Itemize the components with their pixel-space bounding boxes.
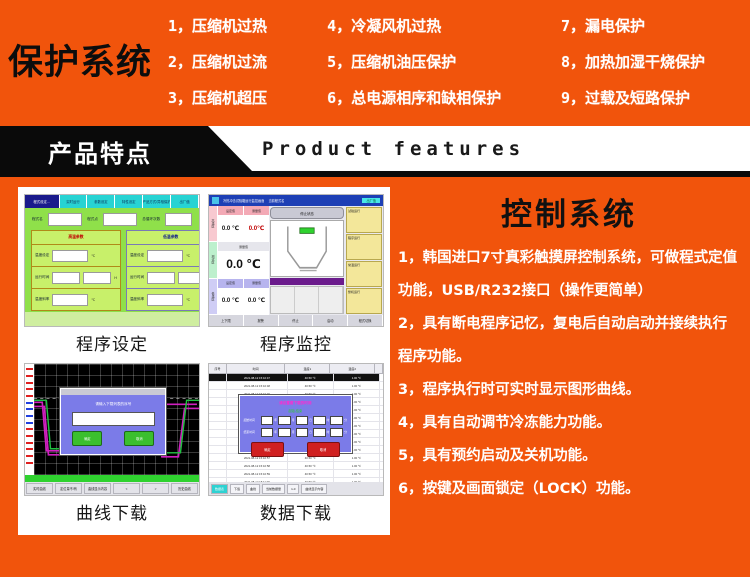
- hmi-value-head: 设定值: [218, 206, 243, 215]
- hmi-dialog-month-input[interactable]: [278, 428, 291, 437]
- hmi-col-header: 序号: [209, 364, 227, 373]
- hmi-zone-cells: 测量值 0.0 ℃: [217, 242, 269, 277]
- hmi-col-header-scroll: [375, 364, 383, 373]
- control-system-list-item: 5，具有预约启动及关机功能。: [398, 440, 740, 473]
- hmi-pane-row: 运行时间 H: [126, 267, 200, 289]
- protection-item-label: 漏电保护: [585, 18, 645, 35]
- hmi-value-readout: 0.0 ℃: [218, 288, 243, 314]
- hmi-pane-row: 温度斜率 ℃: [31, 289, 121, 311]
- table-cell-index: [209, 406, 227, 413]
- hmi-row-input[interactable]: [147, 272, 175, 284]
- protection-item-number: 4，: [327, 17, 351, 35]
- hmi-dialog-unit: 月: [292, 418, 295, 422]
- hmi-mode-button[interactable]: 程序运行: [346, 234, 382, 260]
- protection-item: 6，总电源相序和缺相保护: [327, 80, 561, 116]
- table-cell-index: [209, 438, 227, 445]
- screenshot-caption: 程序监控: [208, 327, 384, 363]
- hmi-curve-screen: 请输入下载列表的序号 确定 取消 实: [25, 364, 199, 495]
- table-row[interactable]: 2021-08-12 15:10:5840.50 ℃1.00 ℃: [209, 462, 383, 470]
- table-cell-temp2: 1.00 ℃: [334, 478, 380, 482]
- hmi-dialog-unit: 分: [344, 418, 347, 422]
- table-cell-temp1: 40.50 ℃: [288, 478, 334, 482]
- protection-item-number: 5，: [327, 53, 351, 71]
- hmi-value-cell: 测量值 0.0℃: [243, 206, 269, 241]
- screenshot-frame: 序号 时间 温度1 温度2 2021-08-12 15:10:4740.50 ℃…: [208, 363, 384, 496]
- screenshot-item-program-monitor: 冷热冲击试验箱运行监控画面 当前程式名 出厂值 高温区 设定值: [208, 194, 384, 363]
- table-cell-temp2: 1.00 ℃: [334, 462, 380, 469]
- control-system-title: 控制系统: [398, 189, 740, 234]
- hmi-footer-button[interactable]: 程式切换: [348, 315, 383, 326]
- table-row[interactable]: 2021-08-12 15:10:5940.50 ℃1.00 ℃: [209, 470, 383, 478]
- hmi-tab[interactable]: 实时运行: [60, 195, 88, 208]
- protection-item-label: 过载及短路保护: [585, 90, 690, 107]
- hmi-footer-button[interactable]: 下载: [230, 484, 244, 494]
- hmi-row-input[interactable]: [83, 272, 111, 284]
- hmi-footer-button[interactable]: 停止: [279, 315, 314, 326]
- hmi-field-row: 程式名 程式点 总循环次数: [25, 208, 199, 230]
- hmi-footer-count: 1-0: [287, 484, 299, 494]
- table-cell-temp1: 40.50 ℃: [288, 382, 334, 389]
- hmi-field-label: 程式点: [87, 217, 98, 222]
- hmi-col-header: 温度2: [330, 364, 375, 373]
- protection-item-label: 压缩机过热: [192, 18, 267, 35]
- hmi-value-cell: 测量值 0.0 ℃: [243, 279, 269, 314]
- hmi-app-icon: [212, 197, 219, 204]
- hmi-row-input[interactable]: [147, 250, 183, 262]
- hmi-dialog-cancel-button[interactable]: 取消: [307, 442, 340, 457]
- hmi-row-input[interactable]: [52, 294, 88, 306]
- hmi-value-cell: 测量值 0.0 ℃: [217, 242, 269, 277]
- hmi-dialog-message: 请输入下载列表的序号: [61, 402, 165, 407]
- hmi-mode-button[interactable]: 试验运行: [346, 207, 382, 233]
- hmi-titlebar-button[interactable]: 出厂值: [362, 198, 380, 203]
- hmi-parameter-panes: 高温参数 温度设定 ℃ 运行时间 H: [25, 230, 199, 311]
- protection-item: 9，过载及短路保护: [561, 80, 750, 116]
- screenshot-item-program-setting: 程式设定… 实时运行 参数设定 特性设定 产品方式/异相保护 出厂值 程式名 程…: [24, 194, 200, 363]
- hmi-value-cell: 设定值 0.0 ℃: [217, 206, 243, 241]
- hmi-row-unit: ℃: [91, 254, 95, 258]
- control-system-list-item: 3，程序执行时可实时显示图形曲线。: [398, 374, 740, 407]
- page-root: 保护系统 1，压缩机过热 2，压缩机过流 3，压缩机超压 4，冷凝风机过热 5，: [0, 0, 750, 577]
- hmi-data-screen: 序号 时间 温度1 温度2 2021-08-12 15:10:4740.50 ℃…: [209, 364, 383, 495]
- hmi-row-label: 温度设定: [130, 253, 144, 258]
- table-cell-index: [209, 478, 227, 482]
- screenshot-frame: 请输入下载列表的序号 确定 取消 实: [24, 363, 200, 496]
- protection-column-3: 7，漏电保护 8，加热加湿干烧保护 9，过载及短路保护: [561, 8, 750, 116]
- hmi-footer-strip: [25, 312, 199, 326]
- table-cell-temp2: 1.00 ℃: [334, 382, 380, 389]
- hmi-curve-footer: 实时曲线 定位量不/有 曲线显示内容 < > 历史曲线: [25, 482, 199, 495]
- hmi-value-head: 测量值: [218, 242, 269, 251]
- hmi-info-cell: [271, 287, 295, 313]
- screenshot-caption: 数据下载: [208, 496, 384, 532]
- hmi-field-input[interactable]: [165, 213, 192, 226]
- protection-item-number: 2，: [168, 53, 192, 71]
- hmi-pane-high-temp: 高温参数 温度设定 ℃ 运行时间 H: [31, 230, 121, 311]
- protection-item: 2，压缩机过流: [168, 44, 327, 80]
- hmi-footer-button[interactable]: 曲线: [246, 484, 260, 494]
- hmi-program-setting-screen: 程式设定… 实时运行 参数设定 特性设定 产品方式/异相保护 出厂值 程式名 程…: [25, 195, 199, 326]
- hmi-info-table: [270, 286, 344, 314]
- hmi-zone-low: 低温区 设定值 0.0 ℃ 测量值 0.0 ℃: [209, 279, 269, 315]
- product-features-title-cn: 产品特点: [48, 134, 152, 169]
- hmi-mode-button[interactable]: 整机运行: [346, 288, 382, 314]
- hmi-value-readout: 0.0 ℃: [244, 288, 269, 314]
- protection-item: 7，漏电保护: [561, 8, 750, 44]
- screenshot-caption: 程序设定: [24, 327, 200, 363]
- screenshot-frame: 程式设定… 实时运行 参数设定 特性设定 产品方式/异相保护 出厂值 程式名 程…: [24, 194, 200, 327]
- product-features-title-en: Product features: [262, 138, 525, 160]
- hmi-dialog-title: 请设置要下载的时间: [240, 401, 351, 406]
- hmi-dialog-buttons: 确定 取消: [240, 442, 351, 457]
- hmi-pane-row: 运行时间 H: [31, 267, 121, 289]
- hmi-row-unit: ℃: [91, 298, 95, 302]
- hmi-dialog-buttons: 确定 取消: [61, 431, 165, 446]
- protection-column-2: 4，冷凝风机过热 5，压缩机油压保护 6，总电源相序和缺相保护: [327, 8, 561, 116]
- hmi-dialog-unit: 年: [274, 430, 277, 434]
- protection-item-number: 7，: [561, 17, 585, 35]
- hmi-row-label: 温度斜率: [130, 297, 144, 302]
- product-features-bar: 产品特点 Product features: [0, 126, 750, 177]
- hmi-info-cell: [295, 287, 319, 313]
- hmi-row-input[interactable]: [52, 250, 88, 262]
- hmi-zone-cells: 设定值 0.0 ℃ 测量值 0.0 ℃: [217, 279, 269, 314]
- hmi-pane-low-temp: 低温参数 温度设定 ℃ 运行时间 H: [126, 230, 200, 311]
- hmi-download-dialog: 请输入下载列表的序号 确定 取消: [60, 388, 166, 454]
- chamber-icon: [271, 221, 343, 276]
- table-cell-index: [209, 390, 227, 397]
- hmi-dialog-subtitle: 起始-结束: [240, 408, 351, 413]
- table-cell-index: [209, 382, 227, 389]
- hmi-dialog-unit: 日: [309, 418, 312, 422]
- hmi-dialog-minute-input[interactable]: [330, 416, 343, 425]
- hmi-dialog-row-label: 起始时间: [244, 418, 260, 422]
- hmi-dialog-day-input[interactable]: [296, 428, 309, 437]
- hmi-data-table-header: 序号 时间 温度1 温度2: [209, 364, 383, 374]
- hmi-tab[interactable]: 参数设定: [87, 195, 115, 208]
- protection-item: 1，压缩机过热: [168, 8, 327, 44]
- hmi-zone-label: 测试区: [209, 242, 217, 277]
- table-row[interactable]: 2021-08-12 15:11:0040.50 ℃1.00 ℃: [209, 478, 383, 482]
- hmi-tab[interactable]: 程式设定…: [25, 195, 60, 208]
- table-cell-temp1: 40.50 ℃: [288, 374, 334, 381]
- hmi-footer-button[interactable]: 上下限: [209, 315, 244, 326]
- hmi-row-input[interactable]: [147, 294, 183, 306]
- hmi-titlebar-mid: 当前程式名: [268, 198, 284, 203]
- hmi-row-unit: ℃: [186, 298, 190, 302]
- protection-item-label: 压缩机过流: [192, 54, 267, 71]
- hmi-row-unit: H: [114, 276, 116, 280]
- table-cell-index: [209, 422, 227, 429]
- hmi-tab[interactable]: 出厂值: [171, 195, 199, 208]
- hmi-footer-button[interactable]: 实时曲线: [26, 483, 53, 494]
- hmi-curve-timeline: [25, 475, 199, 482]
- hmi-field-label: 程式名: [32, 217, 43, 222]
- protection-item: 8，加热加湿干烧保护: [561, 44, 750, 80]
- protection-item-label: 加热加湿干烧保护: [585, 54, 705, 71]
- hmi-zone-high: 高温区 设定值 0.0 ℃ 测量值 0.0℃: [209, 206, 269, 242]
- hmi-dialog-row-label: 结束时间: [244, 430, 260, 434]
- hmi-zone-label: 低温区: [209, 279, 217, 314]
- hmi-dialog-year-input[interactable]: [261, 416, 274, 425]
- protection-item-label: 总电源相序和缺相保护: [351, 90, 501, 107]
- hmi-dialog-hour-input[interactable]: [313, 428, 326, 437]
- protection-item: 4，冷凝风机过热: [327, 8, 561, 44]
- screenshot-item-data-download: 序号 时间 温度1 温度2 2021-08-12 15:10:4740.50 ℃…: [208, 363, 384, 532]
- hmi-monitor-body: 高温区 设定值 0.0 ℃ 测量值 0.0℃: [209, 206, 383, 315]
- table-cell-temp1: 40.50 ℃: [288, 470, 334, 477]
- table-row[interactable]: 2021-08-12 15:10:4840.50 ℃1.00 ℃: [209, 382, 383, 390]
- hmi-row-input[interactable]: [52, 272, 80, 284]
- hmi-monitor-center-column: 停止状态: [269, 206, 345, 315]
- screenshot-gallery: 程式设定… 实时运行 参数设定 特性设定 产品方式/异相保护 出厂值 程式名 程…: [18, 187, 390, 535]
- protection-system-banner: 保护系统 1，压缩机过热 2，压缩机过流 3，压缩机超压 4，冷凝风机过热 5，: [0, 0, 750, 126]
- hmi-dialog-unit: 时: [327, 430, 330, 434]
- hmi-status-badge: 停止状态: [270, 207, 344, 219]
- hmi-data-footer: 数据表 下载 曲线 当前数据量 1-0 曲线显示内容: [209, 482, 383, 495]
- hmi-pane-title: 低温参数: [126, 230, 200, 245]
- protection-system-title: 保护系统: [8, 34, 152, 85]
- table-cell-index: [209, 462, 227, 469]
- hmi-zone-cells: 设定值 0.0 ℃ 测量值 0.0℃: [217, 206, 269, 241]
- table-cell-temp2: 1.00 ℃: [334, 374, 380, 381]
- hmi-footer-button[interactable]: 曲线显示内容: [301, 484, 327, 494]
- table-cell-index: [209, 414, 227, 421]
- hmi-footer-bar: 上下限 报警 停止 启动 程式切换: [209, 315, 383, 326]
- hmi-dialog-year-input[interactable]: [261, 428, 274, 437]
- control-system-list-item: 4，具有自动调节冷冻能力功能。: [398, 407, 740, 440]
- hmi-value-head: 测量值: [244, 206, 269, 215]
- hmi-pane-row: 温度斜率 ℃: [126, 289, 200, 311]
- screenshot-frame: 冷热冲击试验箱运行监控画面 当前程式名 出厂值 高温区 设定值: [208, 194, 384, 327]
- hmi-dialog-day-input[interactable]: [296, 416, 309, 425]
- hmi-dialog-month-input[interactable]: [278, 416, 291, 425]
- hmi-row-label: 温度设定: [35, 253, 49, 258]
- hmi-value-readout: 0.0℃: [244, 215, 269, 241]
- hmi-footer-button[interactable]: 数据表: [211, 484, 228, 494]
- table-cell-time: 2021-08-12 15:10:58: [227, 462, 287, 469]
- protection-item-columns: 1，压缩机过热 2，压缩机过流 3，压缩机超压 4，冷凝风机过热 5，压缩机油压…: [168, 8, 750, 116]
- hmi-dialog-unit: 分: [344, 430, 347, 434]
- hmi-footer-next-button[interactable]: >: [142, 483, 169, 494]
- hmi-curve-plot: 请输入下载列表的序号 确定 取消: [34, 364, 199, 475]
- hmi-footer-button[interactable]: 定位量不/有: [55, 483, 82, 494]
- hmi-footer-label: 当前数据量: [262, 484, 285, 494]
- table-row[interactable]: 2021-08-12 15:10:4740.50 ℃1.00 ℃: [209, 374, 383, 382]
- hmi-time-range-dialog: 请设置要下载的时间 起始-结束 起始时间 年 月 日: [239, 395, 352, 453]
- hmi-dialog-hour-input[interactable]: [313, 416, 326, 425]
- hmi-row-unit: ℃: [186, 254, 190, 258]
- hmi-mode-button[interactable]: 常温运行: [346, 261, 382, 287]
- hmi-field-label: 总循环次数: [142, 217, 160, 222]
- table-cell-index: [209, 454, 227, 461]
- hmi-titlebar-text: 冷热冲击试验箱运行监控画面: [223, 198, 264, 203]
- hmi-titlebar: 冷热冲击试验箱运行监控画面 当前程式名 出厂值: [209, 195, 383, 206]
- control-system-list-item: 6，按键及画面锁定（LOCK）功能。: [398, 473, 740, 506]
- hmi-field-input[interactable]: [48, 213, 82, 226]
- protection-item: 3，压缩机超压: [168, 80, 327, 116]
- hmi-tab[interactable]: 产品方式/异相保护: [143, 195, 171, 208]
- hmi-curve-area: 请输入下载列表的序号 确定 取消: [25, 364, 199, 475]
- hmi-tab[interactable]: 特性设定: [115, 195, 143, 208]
- hmi-dialog-titlebar: [61, 389, 165, 395]
- table-cell-temp1: 40.50 ℃: [288, 462, 334, 469]
- hmi-info-cell: [319, 287, 343, 313]
- protection-item-label: 压缩机超压: [192, 90, 267, 107]
- table-cell-index: [209, 374, 227, 381]
- protection-item-number: 8，: [561, 53, 585, 71]
- hmi-dialog-minute-input[interactable]: [330, 428, 343, 437]
- hmi-dialog-unit: 月: [292, 430, 295, 434]
- protection-item-label: 冷凝风机过热: [351, 18, 441, 35]
- hmi-pane-title: 高温参数: [31, 230, 121, 245]
- hmi-dialog-row: 结束时间 年 月 日 时 分: [244, 428, 347, 437]
- hmi-zone-label: 高温区: [209, 206, 217, 241]
- protection-item-number: 1，: [168, 17, 192, 35]
- hmi-data-table-rows[interactable]: 2021-08-12 15:10:4740.50 ℃1.00 ℃2021-08-…: [209, 374, 383, 482]
- table-cell-time: 2021-08-12 15:10:48: [227, 382, 287, 389]
- hmi-pane-row: 温度设定 ℃: [126, 245, 200, 267]
- protection-item-label: 压缩机油压保护: [351, 54, 456, 71]
- hmi-value-head: 设定值: [218, 279, 243, 288]
- table-cell-time: 2021-08-12 15:10:59: [227, 470, 287, 477]
- hmi-monitor-left-column: 高温区 设定值 0.0 ℃ 测量值 0.0℃: [209, 206, 269, 315]
- table-cell-index: [209, 446, 227, 453]
- hmi-footer-button[interactable]: 启动: [313, 315, 348, 326]
- hmi-monitor-right-buttons: 试验运行 程序运行 常温运行 整机运行: [345, 206, 383, 315]
- hmi-col-header: 时间: [227, 364, 285, 373]
- body-section: 程式设定… 实时运行 参数设定 特性设定 产品方式/异相保护 出厂值 程式名 程…: [0, 177, 750, 577]
- control-system-list-item: 2，具有断电程序记忆，复电后自动启动并接续执行程序功能。: [398, 308, 740, 374]
- table-cell-index: [209, 430, 227, 437]
- control-system-list: 1，韩国进口7寸真彩触摸屏控制系统，可做程式定值功能，USB/R232接口（操作…: [398, 242, 740, 506]
- hmi-dialog-input[interactable]: [72, 412, 155, 426]
- table-cell-index: [209, 470, 227, 477]
- hmi-curve-scale: [25, 364, 34, 475]
- hmi-value-cell: 设定值 0.0 ℃: [217, 279, 243, 314]
- hmi-row-label: 运行时间: [130, 275, 144, 280]
- hmi-progress-bar: [270, 278, 344, 285]
- table-cell-index: [209, 398, 227, 405]
- control-system-list-item: 1，韩国进口7寸真彩触摸屏控制系统，可做程式定值功能，USB/R232接口（操作…: [398, 242, 740, 308]
- hmi-dialog-cancel-button[interactable]: 取消: [124, 431, 154, 446]
- hmi-footer-button[interactable]: 历史曲线: [171, 483, 198, 494]
- hmi-dialog-confirm-button[interactable]: 确定: [72, 431, 102, 446]
- hmi-footer-button[interactable]: 曲线显示内容: [84, 483, 111, 494]
- protection-item-number: 3，: [168, 89, 192, 107]
- hmi-chamber-diagram: [270, 220, 344, 277]
- hmi-dialog-confirm-button[interactable]: 确定: [251, 442, 284, 457]
- table-cell-time: 2021-08-12 15:10:47: [227, 374, 287, 381]
- protection-item-number: 9，: [561, 89, 585, 107]
- protection-item: 5，压缩机油压保护: [327, 44, 561, 80]
- hmi-dialog-unit: 时: [327, 418, 330, 422]
- table-cell-temp2: 1.00 ℃: [334, 470, 380, 477]
- hmi-zone-test: 测试区 测量值 0.0 ℃: [209, 242, 269, 278]
- screenshot-caption: 曲线下载: [24, 496, 200, 532]
- protection-column-1: 1，压缩机过热 2，压缩机过流 3，压缩机超压: [168, 8, 327, 116]
- screenshot-item-curve-download: 请输入下载列表的序号 确定 取消 实: [24, 363, 200, 532]
- hmi-dialog-row: 起始时间 年 月 日 时 分: [244, 416, 347, 425]
- hmi-value-readout: 0.0 ℃: [218, 251, 269, 277]
- hmi-tabbar: 程式设定… 实时运行 参数设定 特性设定 产品方式/异相保护 出厂值: [25, 195, 199, 208]
- table-cell-time: 2021-08-12 15:11:00: [227, 478, 287, 482]
- hmi-footer-prev-button[interactable]: <: [113, 483, 140, 494]
- hmi-monitor-screen: 冷热冲击试验箱运行监控画面 当前程式名 出厂值 高温区 设定值: [209, 195, 383, 326]
- hmi-dialog-unit: 年: [274, 418, 277, 422]
- hmi-pane-row: 温度设定 ℃: [31, 245, 121, 267]
- hmi-row-label: 温度斜率: [35, 297, 49, 302]
- hmi-field-input[interactable]: [103, 213, 137, 226]
- control-system-section: 控制系统 1，韩国进口7寸真彩触摸屏控制系统，可做程式定值功能，USB/R232…: [398, 189, 740, 577]
- hmi-dialog-unit: 日: [309, 430, 312, 434]
- hmi-row-input[interactable]: [178, 272, 200, 284]
- hmi-col-header: 温度1: [285, 364, 330, 373]
- protection-item-number: 6，: [327, 89, 351, 107]
- hmi-value-head: 测量值: [244, 279, 269, 288]
- hmi-row-label: 运行时间: [35, 275, 49, 280]
- hmi-footer-button[interactable]: 报警: [244, 315, 279, 326]
- hmi-value-readout: 0.0 ℃: [218, 215, 243, 241]
